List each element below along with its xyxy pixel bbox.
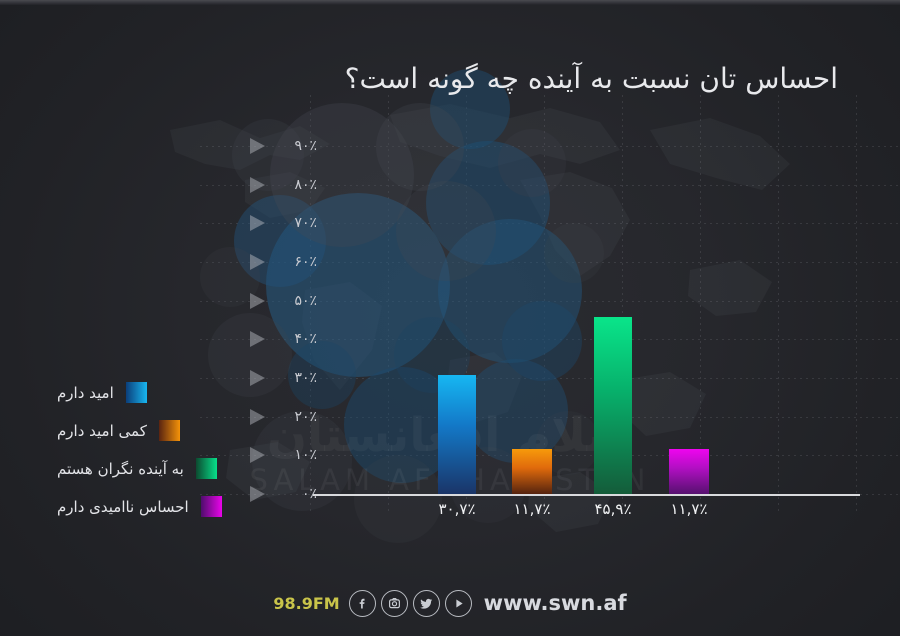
y-axis-tick: ۳۰٪	[240, 369, 317, 387]
y-axis-tick-label: ۴۰٪	[265, 331, 317, 347]
legend-item-worried[interactable]: به آینده نگران هستم	[57, 458, 217, 479]
y-axis-tick: ۷۰٪	[240, 214, 317, 232]
bar-hopeless[interactable]	[669, 449, 709, 494]
triangle-right-icon	[250, 177, 265, 193]
y-axis-tick-label: ۸۰٪	[265, 177, 317, 193]
bar-hopeful[interactable]	[438, 375, 476, 494]
y-axis-tick-label: ۳۰٪	[265, 370, 317, 386]
legend-item-label: به آینده نگران هستم	[57, 460, 184, 478]
y-axis-tick-label: ۲۰٪	[265, 409, 317, 425]
footer-bar: 98.9FM www.swn.af	[0, 587, 900, 619]
y-axis-tick-label: ۷۰٪	[265, 215, 317, 231]
legend-color-swatch	[126, 382, 147, 403]
y-axis-tick: ۰٪	[240, 485, 317, 503]
instagram-icon[interactable]	[381, 590, 408, 617]
legend-item-label: امید دارم	[57, 384, 114, 402]
website-url[interactable]: www.swn.af	[484, 591, 627, 615]
y-axis-tick-label: ۱۰٪	[265, 447, 317, 463]
y-axis-tick: ۵۰٪	[240, 292, 317, 310]
legend-item-hopeless[interactable]: احساس ناامیدی دارم	[57, 496, 222, 517]
legend-item-somewhat-hopeful[interactable]: کمی امید دارم	[57, 420, 180, 441]
legend-item-label: کمی امید دارم	[57, 422, 147, 440]
radio-frequency-label: 98.9FM	[273, 594, 339, 613]
y-axis-tick: ۸۰٪	[240, 176, 317, 194]
triangle-right-icon	[250, 215, 265, 231]
y-axis-tick: ۱۰٪	[240, 446, 317, 464]
bar-somewhat-hopeful[interactable]	[512, 449, 552, 494]
y-axis-tick: ۴۰٪	[240, 330, 317, 348]
legend-item-label: احساس ناامیدی دارم	[57, 498, 189, 516]
top-highlight-strip	[0, 0, 900, 5]
y-axis-tick-label: ۶۰٪	[265, 254, 317, 270]
y-axis-tick: ۹۰٪	[240, 137, 317, 155]
axis-baseline	[313, 494, 860, 496]
triangle-right-icon	[250, 447, 265, 463]
chart-infographic: سلام افغانستان SALAM AFGHANISTAN احساس ت…	[0, 0, 900, 636]
triangle-right-icon	[250, 409, 265, 425]
twitter-icon[interactable]	[413, 590, 440, 617]
y-axis-tick-label: ۰٪	[265, 486, 317, 502]
legend-color-swatch	[196, 458, 217, 479]
youtube-play-icon[interactable]	[445, 590, 472, 617]
page-title: احساس تان نسبت به آینده چه گونه است؟	[345, 62, 838, 95]
triangle-right-icon	[250, 486, 265, 502]
bar-value-label: ۱۱,۷٪	[644, 500, 734, 518]
triangle-right-icon	[250, 293, 265, 309]
triangle-right-icon	[250, 370, 265, 386]
legend-color-swatch	[201, 496, 222, 517]
bar-value-label: ۱۱,۷٪	[487, 500, 577, 518]
y-axis-tick: ۶۰٪	[240, 253, 317, 271]
legend-item-hopeful[interactable]: امید دارم	[57, 382, 147, 403]
y-axis-tick: ۲۰٪	[240, 408, 317, 426]
y-axis-tick-label: ۹۰٪	[265, 138, 317, 154]
triangle-right-icon	[250, 331, 265, 347]
triangle-right-icon	[250, 254, 265, 270]
gridline-vertical	[856, 95, 857, 515]
facebook-icon[interactable]	[349, 590, 376, 617]
bar-worried[interactable]	[594, 317, 632, 494]
triangle-right-icon	[250, 138, 265, 154]
legend-color-swatch	[159, 420, 180, 441]
y-axis-tick-label: ۵۰٪	[265, 293, 317, 309]
